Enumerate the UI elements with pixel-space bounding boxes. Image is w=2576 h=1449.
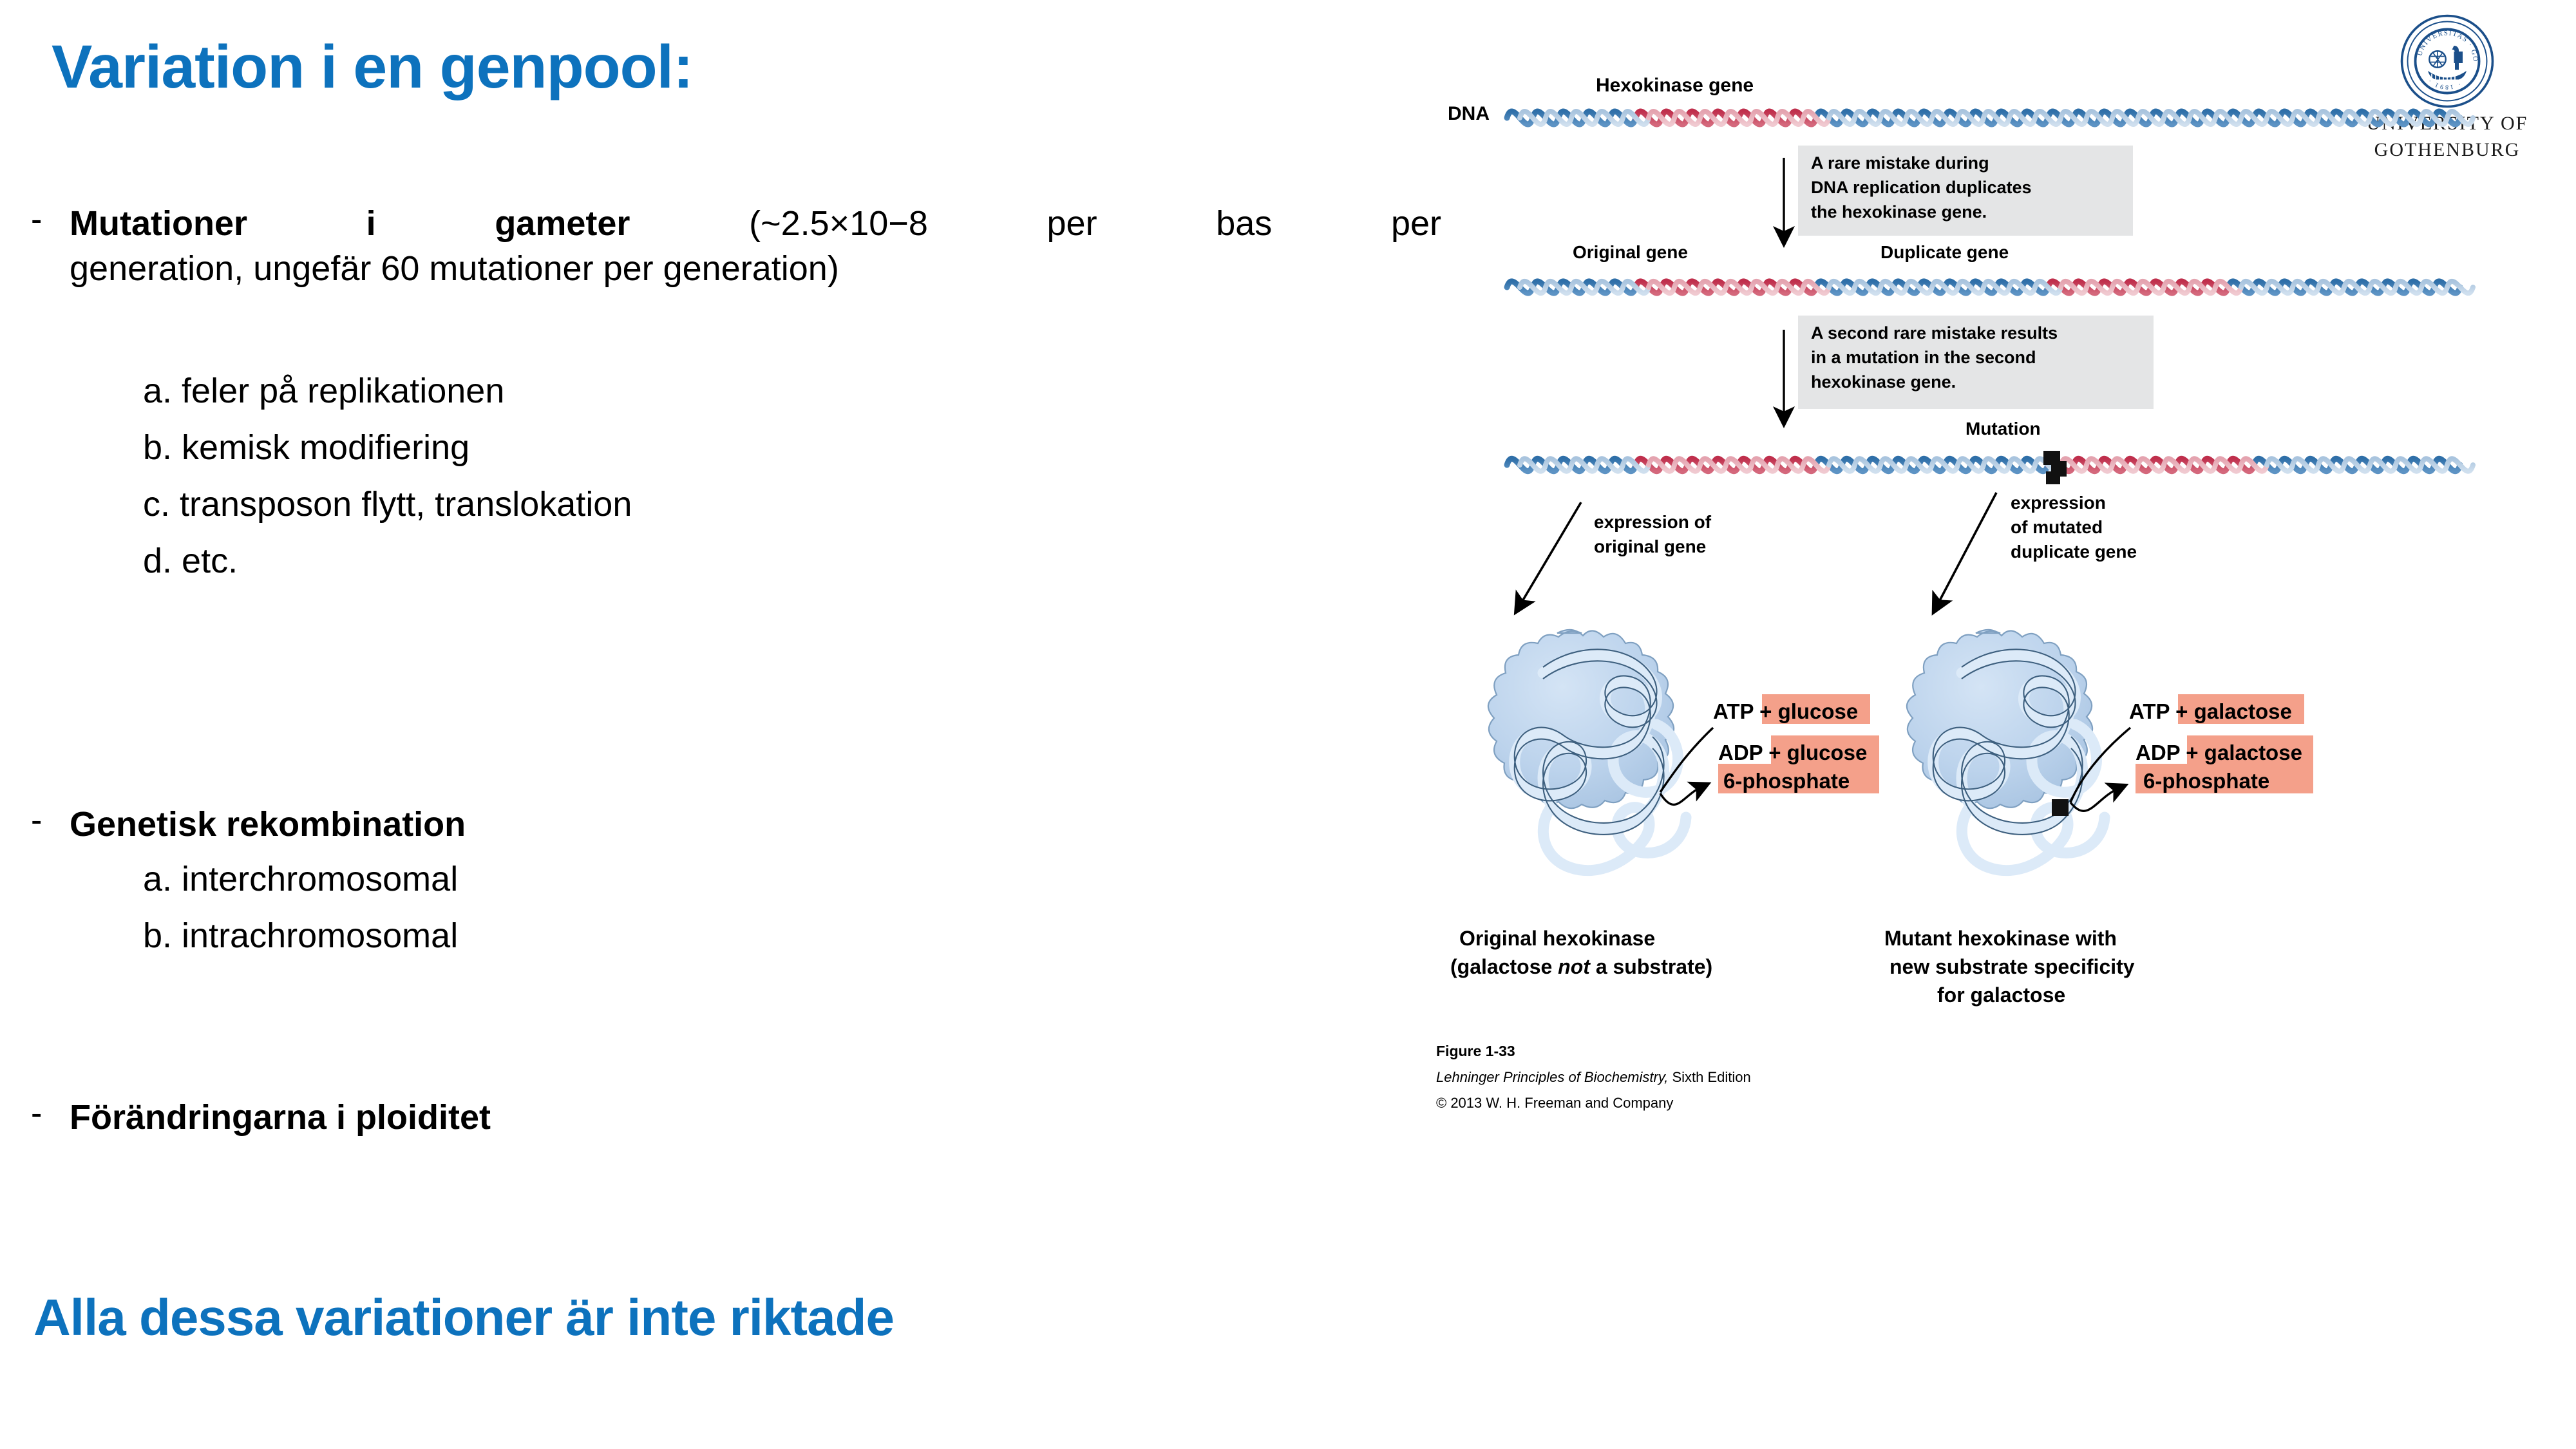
- dna-strand-row-3: [1507, 459, 2473, 471]
- dna-strand-row-2: [1507, 281, 2473, 293]
- bullet-marker: -: [31, 802, 70, 840]
- callout-2-line-3: hexokinase gene.: [1811, 372, 1956, 392]
- reaction-right-product-line-2: 6-phosphate: [2143, 769, 2269, 793]
- expression-left-line-2: original gene: [1594, 536, 1706, 556]
- callout-1-line-3: the hexokinase gene.: [1811, 202, 1987, 222]
- sub-item-b-kemisk: b. kemisk modifiering: [143, 425, 469, 470]
- mutation-label: Mutation: [1965, 419, 2041, 439]
- hexokinase-gene-label: Hexokinase gene: [1596, 77, 1754, 96]
- sub-item-b-intrachromosomal: b. intrachromosomal: [143, 913, 458, 958]
- reaction-left-substrate: ATP + glucose: [1713, 699, 1858, 723]
- page-title: Variation i en genpool:: [52, 32, 1146, 102]
- protein-original-hexokinase: [1488, 630, 1686, 871]
- bullet-rekombination: - Genetisk rekombination: [31, 802, 1319, 847]
- figure-svg: DNA Hexokinase gene A rare mistake durin…: [1436, 77, 2544, 1436]
- original-gene-label: Original gene: [1573, 242, 1688, 262]
- bullet-text: Mutationer i gameter (~2.5×10−8 per bas …: [70, 201, 1441, 291]
- hexokinase-gene-duplication-figure: DNA Hexokinase gene A rare mistake durin…: [1436, 77, 2544, 1436]
- reaction-left-product-line-1: ADP + glucose: [1718, 741, 1867, 764]
- bullet-marker: -: [31, 201, 70, 240]
- bullet-rest-line2: generation, ungefär 60 mutationer per ge…: [70, 246, 1441, 291]
- expression-left-line-1: expression of: [1594, 512, 1712, 532]
- caption-right-line-3: for galactose: [1937, 983, 2065, 1007]
- bullet-bold-label: Mutationer i gameter: [70, 204, 630, 243]
- bullet-ploiditet: - Förändringarna i ploiditet: [31, 1095, 1319, 1140]
- bullet-text: Förändringarna i ploiditet: [70, 1095, 491, 1140]
- caption-left-line-2: (galactose not a substrate): [1450, 955, 1712, 978]
- sub-item-d-etc: d. etc.: [143, 538, 238, 583]
- callout-2-line-2: in a mutation in the second: [1811, 348, 2036, 367]
- expression-arrow-left: [1520, 502, 1581, 605]
- reaction-right-product-line-1: ADP + galactose: [2136, 741, 2302, 764]
- bullet-text: Genetisk rekombination: [70, 802, 466, 847]
- callout-2-line-1: A second rare mistake results: [1811, 323, 2058, 343]
- protein-mutant-hexokinase: [1907, 630, 2105, 871]
- expression-right-line-2: of mutated: [2011, 517, 2103, 537]
- caption-right-line-2: new substrate specificity: [1889, 955, 2135, 978]
- expression-right-line-1: expression: [2011, 493, 2106, 513]
- expression-right-line-3: duplicate gene: [2011, 542, 2137, 562]
- credit-figure-number: Figure 1-33: [1436, 1043, 1515, 1059]
- mutation-site-marker-icon: [2052, 799, 2069, 816]
- reaction-left-product-line-2: 6-phosphate: [1723, 769, 1850, 793]
- caption-right-line-1: Mutant hexokinase with: [1884, 927, 2117, 950]
- dna-strand-row-1: [1507, 111, 2473, 124]
- sub-item-a-interchromosomal: a. interchromosomal: [143, 857, 458, 902]
- sub-item-a-replikation: a. feler på replikationen: [143, 368, 504, 413]
- dna-label: DNA: [1448, 103, 1490, 124]
- credit-book-title: Lehninger Principles of Biochemistry, Si…: [1436, 1069, 1751, 1085]
- closing-statement: Alla dessa variationer är inte riktade: [33, 1288, 1450, 1347]
- bullet-mutationer: - Mutationer i gameter (~2.5×10−8 per ba…: [31, 201, 1441, 291]
- expression-arrow-right: [1937, 493, 1996, 605]
- bullet-bold-label: Genetisk rekombination: [70, 805, 466, 844]
- reaction-right-substrate: ATP + galactose: [2129, 699, 2292, 723]
- callout-1-line-2: DNA replication duplicates: [1811, 178, 2032, 197]
- slide-text-column: Variation i en genpool: - Mutationer i g…: [0, 0, 1481, 1449]
- sub-item-c-transposon: c. transposon flytt, translokation: [143, 482, 632, 527]
- callout-1-line-1: A rare mistake during: [1811, 153, 1989, 173]
- bullet-marker: -: [31, 1095, 70, 1133]
- credit-copyright: © 2013 W. H. Freeman and Company: [1436, 1095, 1673, 1111]
- bullet-bold-label: Förändringarna i ploiditet: [70, 1098, 491, 1137]
- bullet-rest-line1: (~2.5×10−8 per bas per: [749, 204, 1441, 243]
- caption-left-line-1: Original hexokinase: [1459, 927, 1655, 950]
- duplicate-gene-label: Duplicate gene: [1880, 242, 2009, 262]
